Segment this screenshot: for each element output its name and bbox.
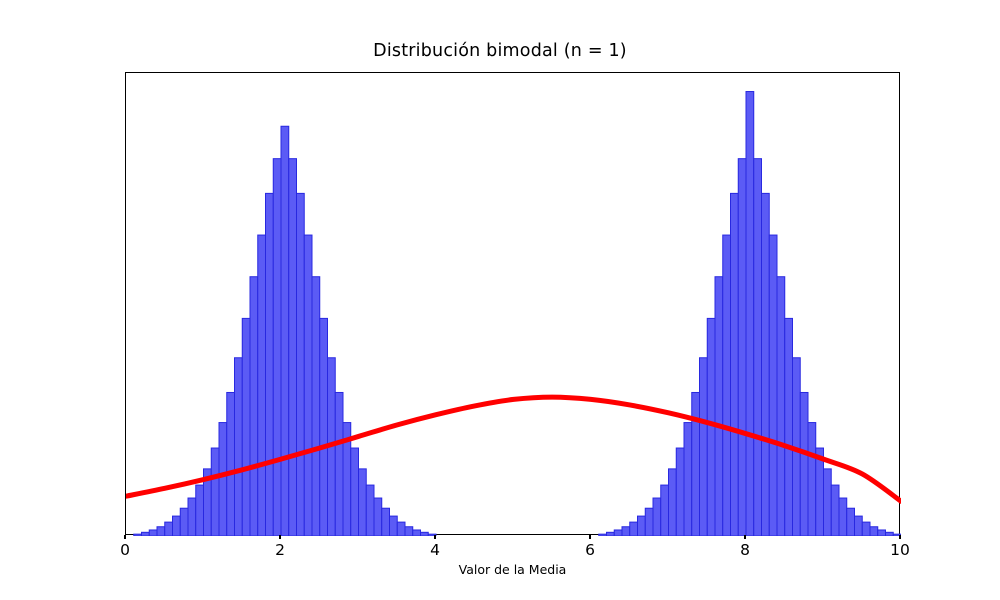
x-tick-label: 8 (740, 541, 750, 559)
histogram-bar (173, 516, 181, 536)
histogram-bar (707, 318, 715, 536)
x-axis-ticks: 0246810 (125, 535, 900, 565)
histogram-bar (777, 277, 785, 536)
histogram-bar (320, 318, 328, 536)
x-tick-label: 10 (890, 541, 910, 559)
chart-svg (126, 73, 901, 536)
histogram-bar (227, 392, 235, 536)
histogram-bar (390, 516, 398, 536)
page-title: Distribución bimodal (n = 1) (0, 41, 1000, 61)
histogram-bar (839, 498, 847, 536)
x-tick-label: 0 (120, 541, 130, 559)
histogram-bar (669, 469, 677, 536)
histogram-bar (219, 423, 227, 536)
x-tick-label: 4 (430, 541, 440, 559)
histogram-bar (638, 516, 646, 536)
histogram-bar (692, 392, 700, 536)
histogram-bar (382, 508, 390, 536)
x-tick-mark (434, 535, 435, 539)
histogram-bar (211, 448, 219, 536)
histogram-bar (808, 423, 816, 536)
figure-canvas: Distribución bimodal (n = 1) 0246810 Val… (0, 0, 1000, 600)
histogram-bar (242, 318, 250, 536)
x-tick-mark (744, 535, 745, 539)
histogram-bar (630, 522, 638, 536)
histogram-bar (289, 159, 297, 536)
x-tick-mark (589, 535, 590, 539)
histogram-bar (258, 235, 266, 536)
histogram-bar (397, 522, 405, 536)
histogram-bar (700, 358, 708, 536)
histogram-bar (824, 469, 832, 536)
histogram-bar (281, 126, 289, 536)
histogram-bar (266, 193, 274, 536)
histogram-bar (762, 193, 770, 536)
histogram-bar (855, 516, 863, 536)
histogram-bar (196, 485, 204, 536)
histogram-bar (769, 235, 777, 536)
histogram-bar (723, 235, 731, 536)
histogram-bar (738, 159, 746, 536)
histogram-bar (366, 485, 374, 536)
histogram-bar (653, 498, 661, 536)
histogram-bar (273, 159, 281, 536)
histogram-bar (746, 92, 754, 536)
histogram-bar (335, 392, 343, 536)
x-tick-label: 2 (275, 541, 285, 559)
histogram-bar (359, 469, 367, 536)
x-tick-mark (124, 535, 125, 539)
histogram-bar (165, 522, 173, 536)
histogram-bar (374, 498, 382, 536)
histogram-bar (847, 508, 855, 536)
histogram-bar (645, 508, 653, 536)
histogram-bar (715, 277, 723, 536)
histogram-bar (250, 277, 258, 536)
histogram-bar (312, 277, 320, 536)
histogram-bar (188, 498, 196, 536)
histogram-bar (831, 485, 839, 536)
plot-area (125, 72, 900, 535)
histogram-bar (235, 358, 243, 536)
x-tick-mark (279, 535, 280, 539)
histogram-bar (731, 193, 739, 536)
histogram-bar (304, 235, 312, 536)
histogram-bar (180, 508, 188, 536)
histogram-bar (661, 485, 669, 536)
histogram-bar (684, 423, 692, 536)
x-tick-mark (899, 535, 900, 539)
histogram-bar (785, 318, 793, 536)
histogram-bar (676, 448, 684, 536)
histogram-bar (351, 448, 359, 536)
histogram-bar (800, 392, 808, 536)
histogram-bar (297, 193, 305, 536)
histogram-bar (862, 522, 870, 536)
x-tick-label: 6 (585, 541, 595, 559)
x-axis-label: Valor de la Media (125, 562, 900, 577)
histogram-bar (754, 159, 762, 536)
